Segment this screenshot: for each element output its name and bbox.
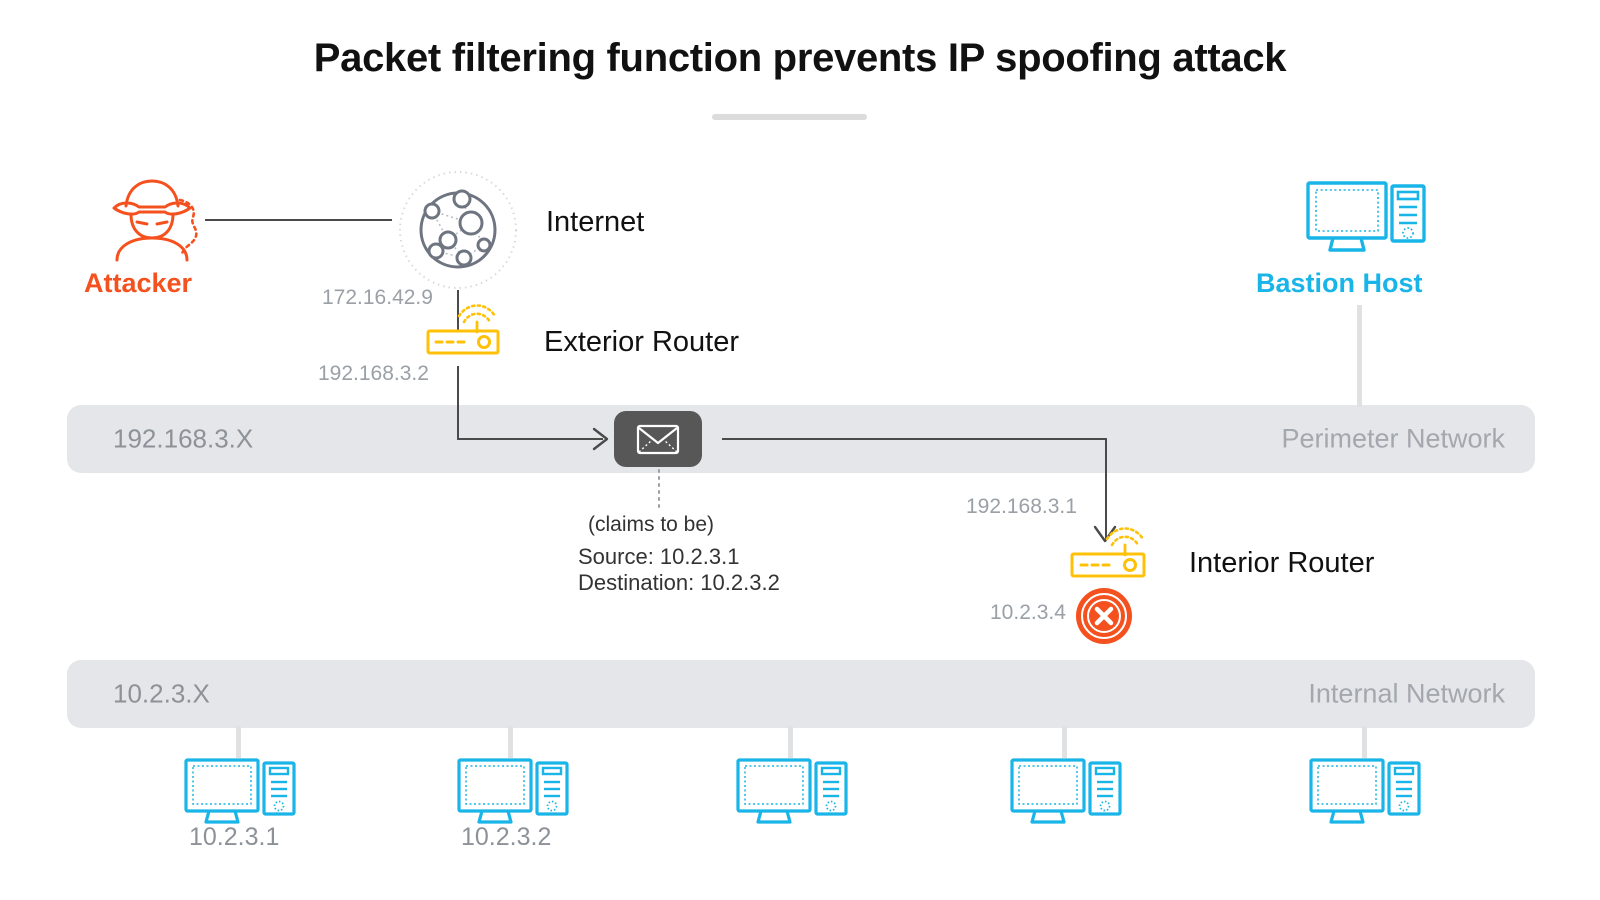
block-denied-icon — [1076, 588, 1132, 644]
diagram-canvas: Packet filtering function prevents IP sp… — [0, 0, 1600, 900]
internal-host-2-computer-icon — [456, 757, 572, 827]
packet-source-label: Source: 10.2.3.1 — [578, 544, 739, 570]
exterior-router-icon — [418, 298, 514, 358]
packet-destination-label: Destination: 10.2.3.2 — [578, 570, 780, 596]
internal-host-1-computer-icon — [183, 757, 299, 827]
link-attacker-to-internet — [205, 219, 392, 221]
interior-router-label: Interior Router — [1189, 547, 1374, 580]
interior-router-icon — [1062, 518, 1162, 578]
link-host-4-stem — [1062, 726, 1067, 758]
link-host-1-stem — [236, 726, 241, 758]
internal-host-4-computer-icon — [1009, 757, 1125, 827]
attacker-hacker-icon — [104, 176, 204, 262]
link-host-2-stem — [508, 726, 513, 758]
exterior-router-ip-top: 172.16.42.9 — [322, 286, 433, 310]
interior-router-ip-top: 192.168.3.1 — [966, 495, 1077, 519]
packet-claim-label: (claims to be) — [588, 513, 714, 537]
perimeter-network-name: Perimeter Network — [1281, 424, 1505, 455]
bastion-host-label: Bastion Host — [1256, 268, 1423, 299]
attacker-label: Attacker — [84, 268, 192, 299]
bastion-host-computer-icon — [1305, 180, 1429, 256]
exterior-router-ip-bottom: 192.168.3.2 — [318, 362, 429, 386]
internal-host-5-computer-icon — [1308, 757, 1424, 827]
link-host-5-stem — [1362, 726, 1367, 758]
internal-host-1-label: 10.2.3.1 — [189, 823, 279, 852]
page-title: Packet filtering function prevents IP sp… — [0, 36, 1600, 81]
link-exterior-router-to-packet — [457, 438, 603, 440]
internal-network-bar: 10.2.3.X Internal Network — [67, 660, 1535, 728]
packet-node[interactable] — [614, 411, 702, 467]
link-packet-to-interior-router — [722, 438, 1107, 440]
internet-network-globe-icon — [396, 168, 520, 292]
interior-router-ip-bottom: 10.2.3.4 — [990, 601, 1066, 625]
title-divider — [712, 114, 867, 120]
exterior-router-label: Exterior Router — [544, 326, 739, 359]
link-host-3-stem — [788, 726, 793, 758]
perimeter-network-ip-range: 192.168.3.X — [113, 424, 253, 455]
internet-label: Internet — [546, 206, 644, 239]
link-exterior-router-down — [457, 366, 459, 440]
internal-network-ip-range: 10.2.3.X — [113, 679, 210, 710]
internal-host-2-label: 10.2.3.2 — [461, 823, 551, 852]
packet-callout-dotted-line — [657, 470, 661, 512]
envelope-icon — [636, 423, 680, 455]
internal-network-name: Internal Network — [1308, 679, 1505, 710]
internal-host-3-computer-icon — [735, 757, 851, 827]
link-bastion-to-perimeter — [1357, 305, 1362, 407]
